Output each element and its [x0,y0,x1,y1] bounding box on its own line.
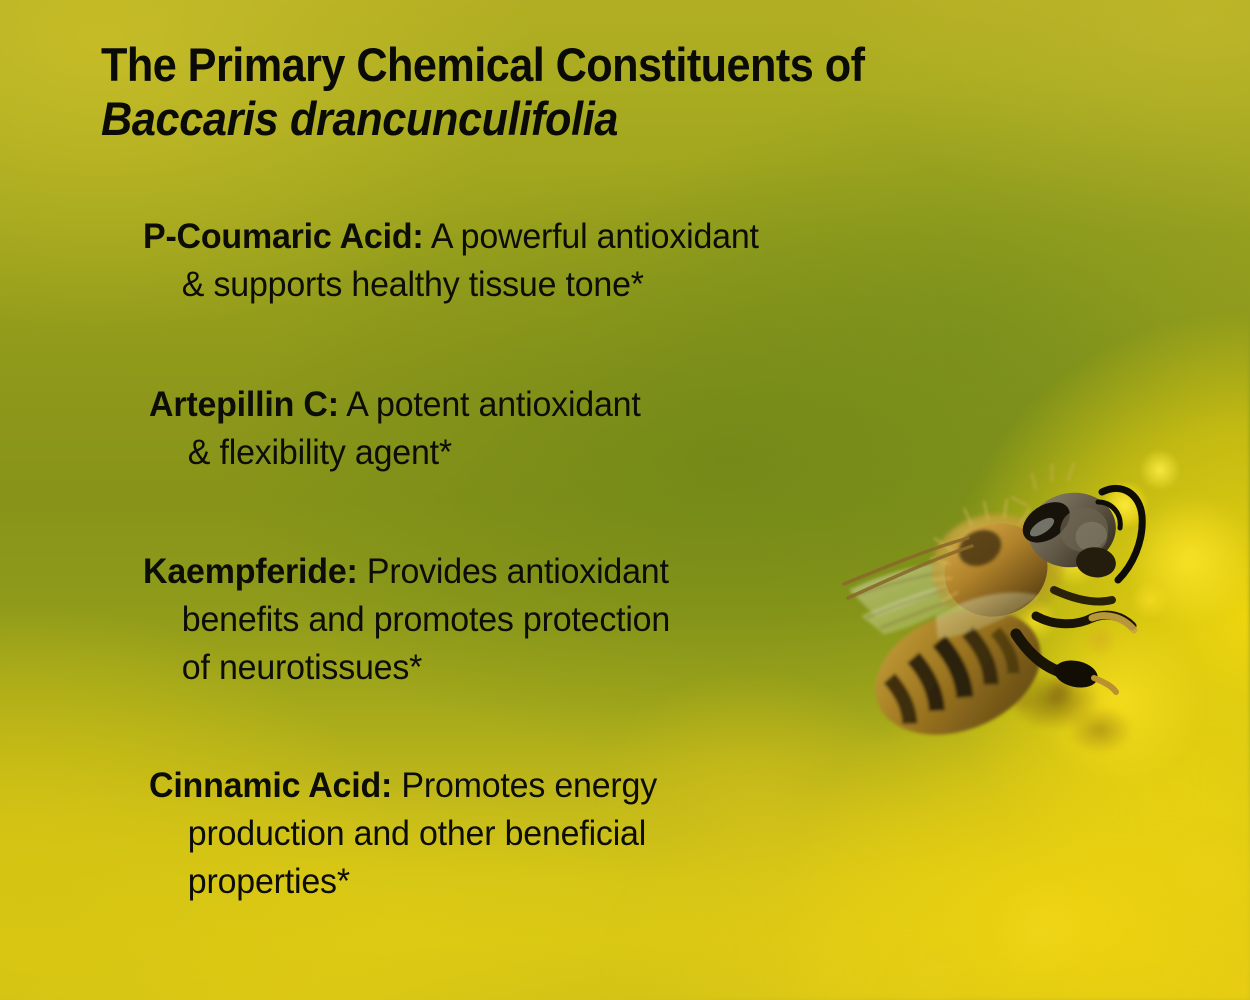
constituent-item-artepillin-c: Artepillin C: A potent antioxidant & fle… [149,381,641,477]
title-line-2: Baccaris drancunculifolia [101,92,1039,146]
constituent-line: production and other beneficial [149,810,657,858]
constituent-line: of neurotissues* [143,644,670,692]
constituent-item-cinnamic-acid: Cinnamic Acid: Promotes energy productio… [149,762,657,906]
constituent-line: & supports healthy tissue tone* [143,261,759,309]
constituent-line: benefits and promotes protection [143,596,670,644]
constituent-term: Cinnamic Acid: [149,766,392,805]
constituent-term: Kaempferide: [143,552,358,591]
constituent-line: & flexibility agent* [149,429,641,477]
constituent-line: properties* [149,858,657,906]
constituent-description: A potent antioxidant [339,385,641,424]
constituent-term: P-Coumaric Acid: [143,217,423,256]
infographic-canvas: The Primary Chemical Constituents of Bac… [0,0,1250,1000]
constituent-item-kaempferide: Kaempferide: Provides antioxidant benefi… [143,548,670,692]
constituent-item-p-coumaric-acid: P-Coumaric Acid: A powerful antioxidant … [143,213,759,309]
text-overlay: The Primary Chemical Constituents of Bac… [0,0,1250,1000]
title-line-1: The Primary Chemical Constituents of [101,38,1039,92]
constituent-term: Artepillin C: [149,385,339,424]
constituent-description: Promotes energy [392,766,657,805]
constituent-description: Provides antioxidant [358,552,669,591]
constituent-description: A powerful antioxidant [423,217,758,256]
page-title: The Primary Chemical Constituents of Bac… [101,38,1121,146]
